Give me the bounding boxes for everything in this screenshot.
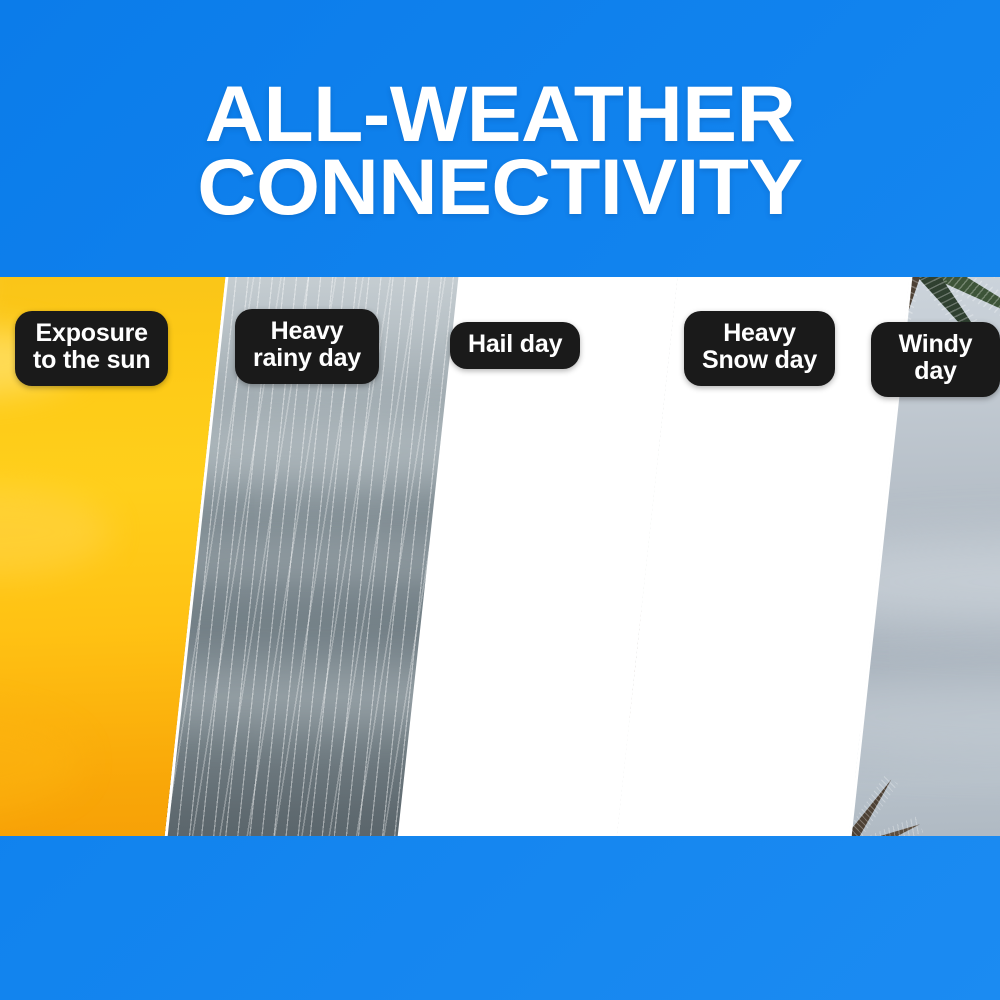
poster-root: ALL-WEATHER CONNECTIVITY xyxy=(0,0,1000,1000)
panel-label-hail: Hail day xyxy=(450,322,580,369)
panel-label-snow: Heavy Snow day xyxy=(684,311,835,386)
panel-label-rain: Heavy rainy day xyxy=(235,309,379,384)
panel-label-sun: Exposure to the sun xyxy=(15,311,168,386)
headline-line-1: ALL-WEATHER xyxy=(0,78,1000,151)
panel-label-wind: Windy day xyxy=(871,322,1000,397)
headline-line-2: CONNECTIVITY xyxy=(0,151,1000,224)
page-title: ALL-WEATHER CONNECTIVITY xyxy=(0,78,1000,223)
